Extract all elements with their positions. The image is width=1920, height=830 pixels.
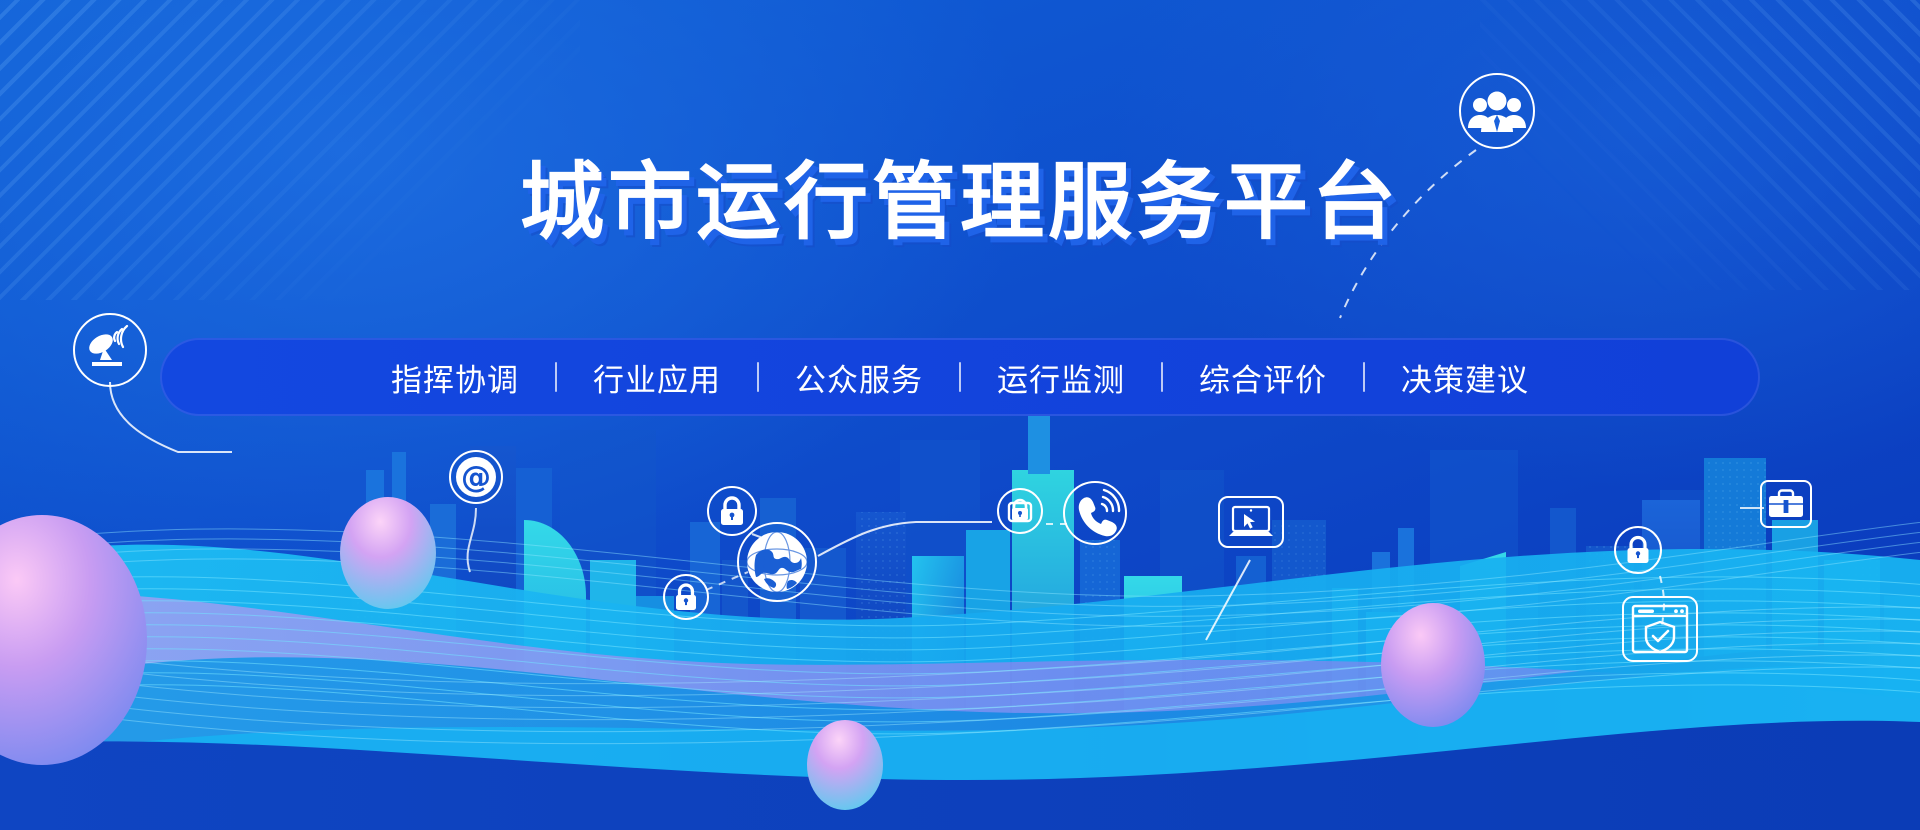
decorative-sphere-bottom — [807, 720, 883, 810]
svg-text:@: @ — [461, 460, 491, 495]
nav-item-command-coordination[interactable]: 指挥协调 — [355, 355, 555, 400]
phone-signal-icon — [1062, 480, 1128, 546]
nav-item-decision-advice[interactable]: 决策建议 — [1365, 355, 1565, 400]
satellite-dish-icon — [72, 312, 148, 388]
nav-item-operation-monitoring[interactable]: 运行监测 — [961, 355, 1161, 400]
page-title: 城市运行管理服务平台 — [520, 160, 1400, 244]
laptop-cursor-icon — [1218, 496, 1284, 548]
nav-item-public-service[interactable]: 公众服务 — [759, 355, 959, 400]
people-group-icon — [1458, 72, 1536, 150]
main-nav-bar: 指挥协调行业应用公众服务运行监测综合评价决策建议 — [160, 338, 1760, 416]
decorative-sphere-right — [1381, 603, 1485, 727]
lock-icon-lower — [662, 573, 710, 621]
decorative-sphere-upper-left — [340, 497, 436, 609]
briefcase-icon — [1760, 480, 1812, 528]
nav-item-comprehensive-evaluation[interactable]: 综合评价 — [1163, 355, 1363, 400]
lock-icon-mid — [996, 487, 1044, 535]
lock-icon-right — [1613, 525, 1663, 575]
nav-item-industry-application[interactable]: 行业应用 — [557, 355, 757, 400]
banner-title-wrapper: 城市运行管理服务平台 — [0, 160, 1920, 244]
globe-icon — [736, 521, 818, 603]
shield-browser-icon — [1622, 596, 1698, 662]
at-sign-icon: @ — [448, 449, 504, 505]
city-platform-banner: @ — [0, 0, 1920, 830]
